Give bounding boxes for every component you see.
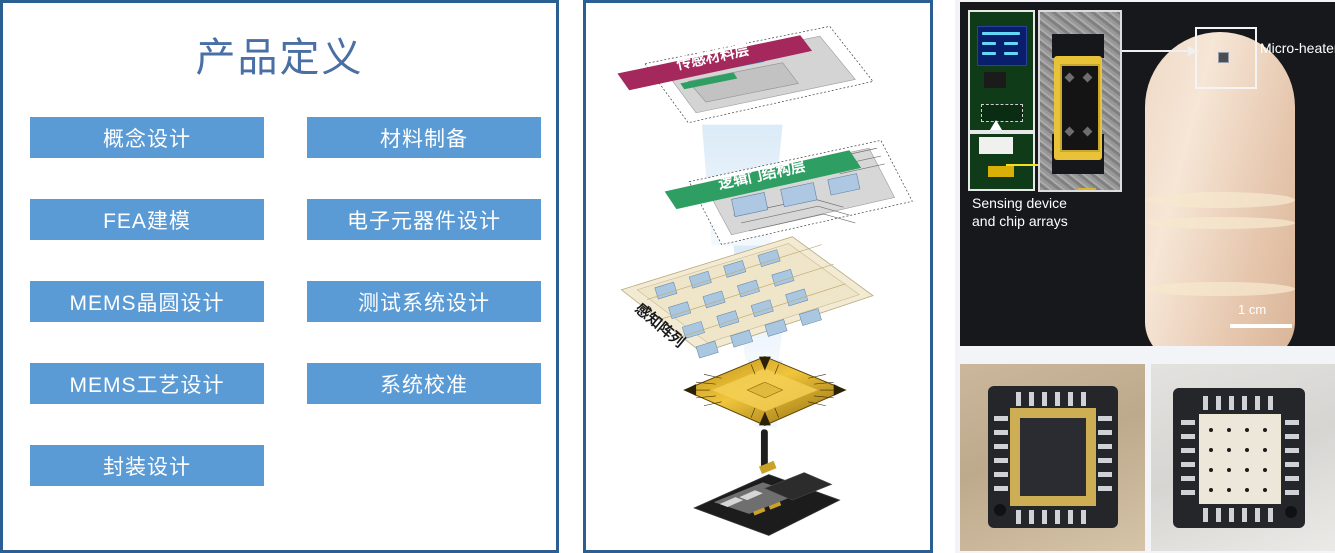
pcb-microcontroller: [984, 72, 1006, 88]
product-step-button-mems-process-design[interactable]: MEMS工艺设计: [30, 363, 264, 404]
sensing-array-layer: 感知阵列: [621, 237, 873, 358]
device-top-cap: [1052, 34, 1104, 58]
finger-crease: [1145, 192, 1295, 208]
finger-crease: [1145, 282, 1295, 296]
wireless-pcb-module: [694, 429, 839, 535]
sensing-device-label: Sensing deviceand chip arrays: [972, 194, 1068, 230]
micro-heater-chip: [1218, 52, 1229, 63]
product-step-button-system-calibration[interactable]: 系统校准: [307, 363, 541, 404]
pcb-connector-inset: [968, 132, 1035, 191]
micro-heater-leader-line: [1112, 50, 1198, 52]
exploded-stack-diagram: 传感材料层 逻辑门结构层: [586, 3, 930, 550]
device-die-window: [1060, 64, 1100, 152]
socket-body: [988, 386, 1118, 528]
exploded-stack-panel: 传感材料层 逻辑门结构层: [583, 0, 933, 553]
left-button-column: 概念设计 FEA建模 MEMS晶圆设计 MEMS工艺设计 封装设计: [30, 117, 264, 527]
die-surface: [1199, 414, 1281, 504]
device-gold-frame: [1054, 56, 1102, 160]
die-surface: [1020, 418, 1086, 496]
packaged-chip: [684, 357, 845, 426]
finger-microheater-photo: Micro-heater: [960, 2, 1335, 346]
socket-body: [1173, 388, 1305, 528]
product-step-button-concept-design[interactable]: 概念设计: [30, 117, 264, 158]
product-definition-panel: 产品定义 概念设计 FEA建模 MEMS晶圆设计 MEMS工艺设计 封装设计 材…: [0, 0, 559, 553]
chip-socket-gold-die-photo: [960, 364, 1145, 551]
inset-link-arrow-icon: [990, 120, 1002, 130]
connector-gold-pads: [988, 166, 1014, 177]
micro-heater-label: Micro-heater: [1260, 40, 1335, 56]
oled-display: [977, 26, 1027, 66]
page-title: 产品定义: [3, 25, 556, 83]
product-step-button-material-preparation[interactable]: 材料制备: [307, 117, 541, 158]
photo-montage-panel: Micro-heater: [955, 0, 1335, 553]
pcb-connector: [981, 104, 1023, 122]
chip-socket-white-die-photo: [1151, 364, 1335, 551]
logic-gate-structure-layer: 逻辑门结构层: [665, 140, 913, 244]
sensing-material-layer: 传感材料层: [617, 26, 873, 122]
product-step-button-test-system-design[interactable]: 测试系统设计: [307, 281, 541, 322]
pcb-board-inset: [968, 10, 1035, 132]
product-step-button-package-design[interactable]: 封装设计: [30, 445, 264, 486]
product-step-button-fea-modeling[interactable]: FEA建模: [30, 199, 264, 240]
scale-bar-label: 1 cm: [1238, 302, 1266, 317]
product-step-button-mems-wafer-design[interactable]: MEMS晶圆设计: [30, 281, 264, 322]
sensing-device-photo: [1038, 10, 1122, 192]
right-button-column: 材料制备 电子元器件设计 测试系统设计 系统校准: [307, 117, 541, 445]
finger-crease: [1145, 217, 1295, 229]
scale-bar: [1230, 324, 1292, 328]
device-notch: [1078, 188, 1096, 192]
product-step-button-electronic-component-design[interactable]: 电子元器件设计: [307, 199, 541, 240]
connector-ribbon: [979, 137, 1013, 154]
micro-heater-leader-arrow-icon: [1188, 46, 1197, 56]
